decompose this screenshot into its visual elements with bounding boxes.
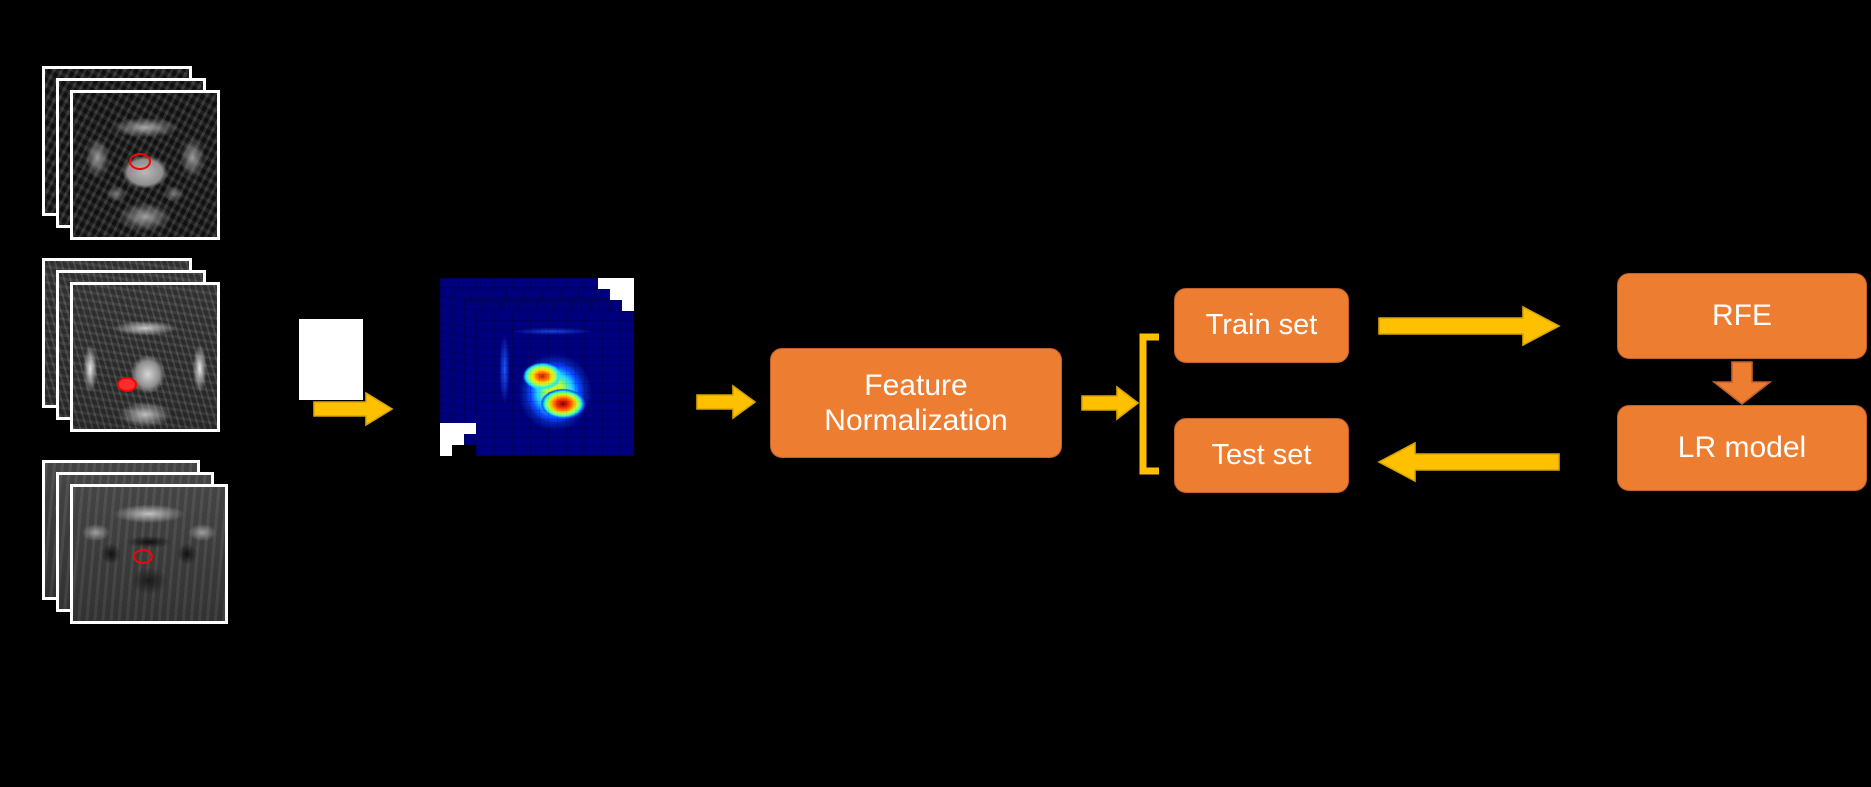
arrow-right-icon xyxy=(697,386,755,418)
heatmap-cutout xyxy=(610,289,634,300)
arrow-down-icon xyxy=(1712,362,1772,404)
roi-outline xyxy=(129,153,151,170)
feature-heatmap-stack-icon xyxy=(440,278,670,488)
roi-outline xyxy=(133,549,153,564)
bracket-split-icon xyxy=(1139,334,1165,474)
mri-slice xyxy=(70,484,228,624)
step-feature-normalization[interactable]: Feature Normalization xyxy=(770,348,1062,458)
arrow-left-icon xyxy=(1379,443,1559,481)
mri-slice xyxy=(70,90,220,240)
arrow-right-icon xyxy=(314,392,392,426)
mri-stack-dwi xyxy=(42,258,222,434)
step-train-set[interactable]: Train set xyxy=(1174,288,1349,363)
heatmap-pixel-grid xyxy=(476,311,634,456)
roi-outline xyxy=(117,377,137,392)
heatmap-cutout xyxy=(622,300,634,311)
step-rfe[interactable]: RFE xyxy=(1617,273,1867,359)
heatmap-cutout xyxy=(440,423,476,434)
mri-slice xyxy=(70,282,220,432)
mri-stack-adc xyxy=(42,66,222,242)
heatmap-cutout xyxy=(598,278,634,289)
mri-stack-t2w xyxy=(42,460,232,630)
arrow-right-icon xyxy=(1379,307,1559,345)
heatmap-cutout xyxy=(440,434,464,445)
mri-slice-texture xyxy=(73,285,217,429)
heatmap-slice xyxy=(476,311,634,456)
step-test-set[interactable]: Test set xyxy=(1174,418,1349,493)
diagram-canvas: Feature Normalization Train set Test set… xyxy=(0,0,1871,787)
segmentation-mask-icon xyxy=(299,319,363,400)
step-lr-model[interactable]: LR model xyxy=(1617,405,1867,491)
heatmap-cutout xyxy=(440,445,452,456)
arrow-right-icon xyxy=(1082,387,1138,419)
